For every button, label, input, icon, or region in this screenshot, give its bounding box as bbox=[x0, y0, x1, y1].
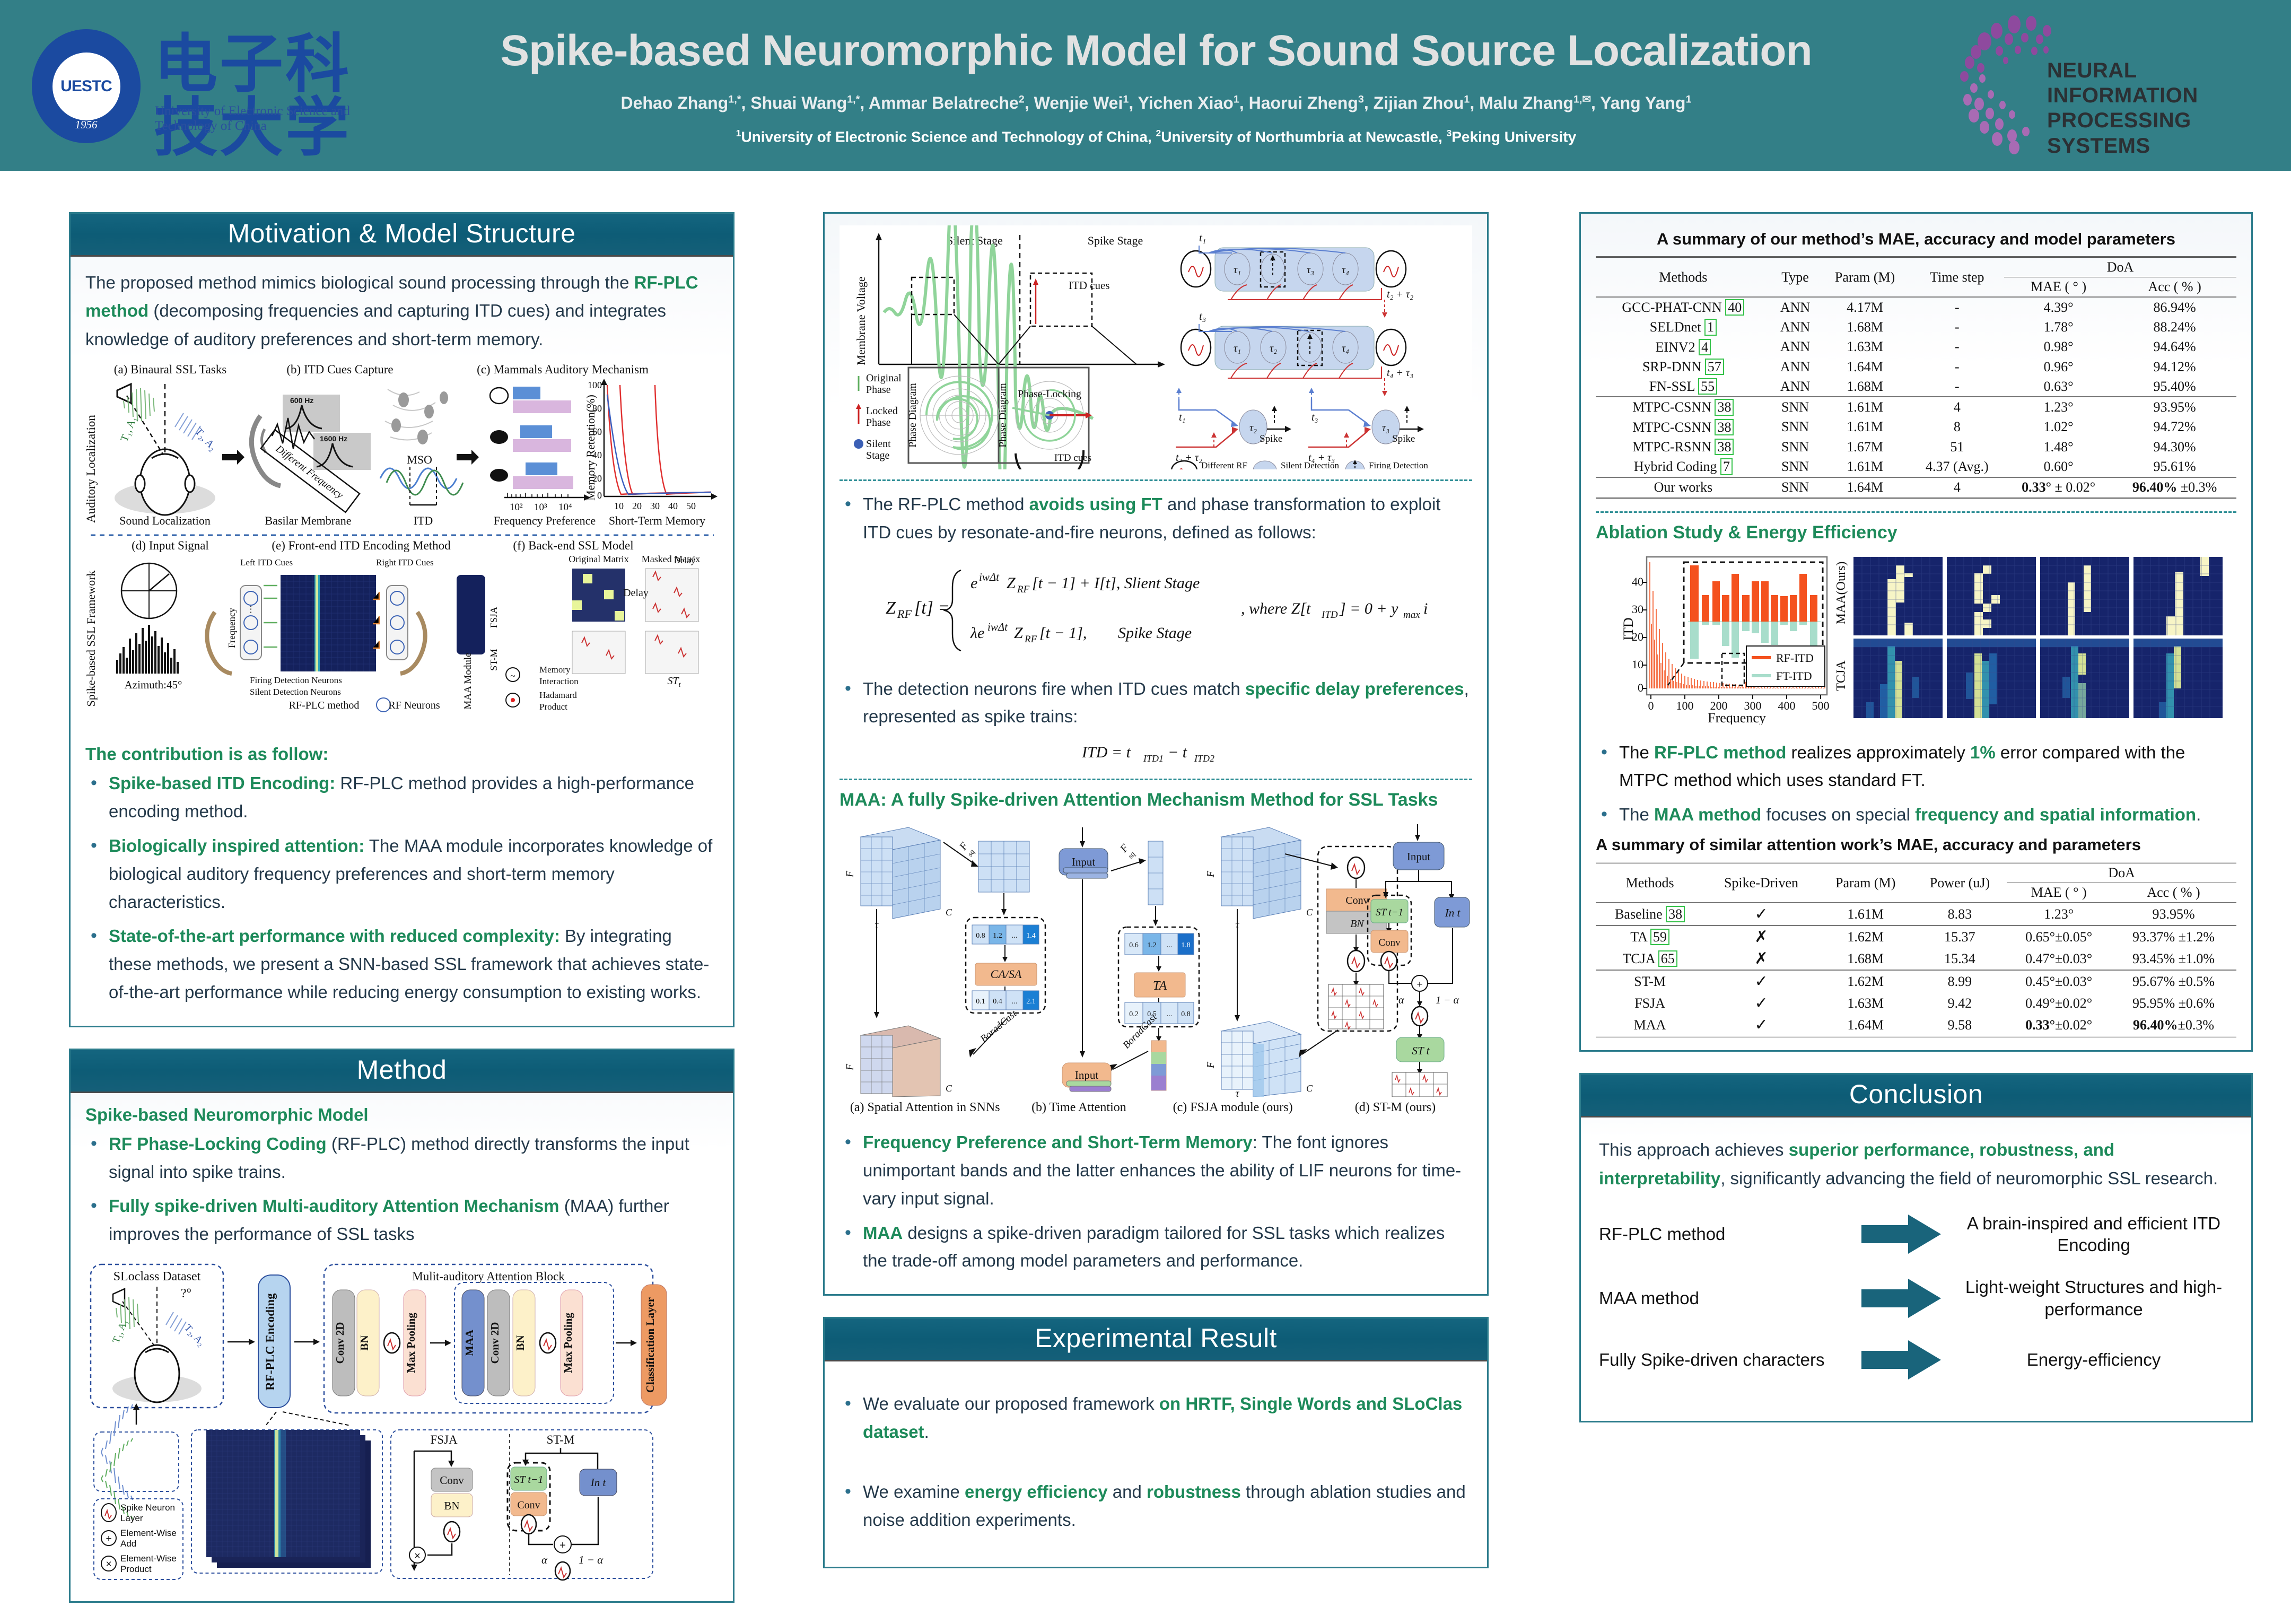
contribution-bold: State-of-the-art performance with reduce… bbox=[109, 926, 560, 946]
svg-text:iwΔt: iwΔt bbox=[979, 571, 1000, 583]
ref-badge[interactable]: 65 bbox=[1658, 950, 1677, 967]
title-area: Spike-based Neuromorphic Model for Sound… bbox=[371, 25, 1941, 145]
svg-text:τ₄: τ₄ bbox=[1342, 264, 1349, 276]
svg-text:Azimuth:45°: Azimuth:45° bbox=[125, 678, 182, 691]
cell-method: Hybrid Coding 7 bbox=[1596, 457, 1771, 477]
ablation-divider bbox=[1596, 511, 2236, 513]
motivation-intro-pre: The proposed method mimics biological so… bbox=[85, 273, 634, 292]
cell-timestep: - bbox=[1910, 317, 2004, 337]
svg-text:Phase-Locking: Phase-Locking bbox=[1018, 388, 1081, 400]
cell-spike-driven: ✗ bbox=[1704, 925, 1818, 948]
rfplc-b2-highlight: specific delay preferences bbox=[1245, 679, 1464, 699]
svg-text:...: ... bbox=[1167, 1010, 1173, 1018]
svg-text:BoradCast: BoradCast bbox=[978, 1008, 1019, 1045]
cell-acc: 88.24% bbox=[2113, 317, 2236, 337]
svg-text:Hadamard: Hadamard bbox=[539, 690, 577, 700]
svg-text:+: + bbox=[559, 1540, 566, 1551]
table-row: EINV2 4 ANN 1.63M - 0.98° 94.64% bbox=[1596, 337, 2236, 357]
svg-text:τ₁: τ₁ bbox=[1262, 466, 1268, 469]
rfplc-bullet-list-2: The detection neurons fire when ITD cues… bbox=[840, 675, 1472, 731]
svg-text:STt: STt bbox=[667, 675, 681, 689]
uestc-seal-year: 1956 bbox=[32, 118, 141, 132]
svg-text:RF-ITD: RF-ITD bbox=[1776, 651, 1814, 665]
svg-text:0.2: 0.2 bbox=[1129, 1010, 1139, 1018]
ref-badge[interactable]: 55 bbox=[1698, 378, 1717, 395]
cell-method: TA 59 bbox=[1596, 925, 1704, 948]
maa-attention-figure: F τ C F sq bbox=[840, 816, 1472, 1099]
table-row: GCC-PHAT-CNN 40 ANN 4.17M - 4.39° 86.94% bbox=[1596, 297, 2236, 317]
cell-type: SNN bbox=[1771, 457, 1820, 477]
svg-text:40: 40 bbox=[592, 450, 602, 460]
table2-col-spikedriven: Spike-Driven bbox=[1704, 863, 1818, 903]
svg-text:Mulit-auditory Attention Block: Mulit-auditory Attention Block bbox=[412, 1270, 565, 1283]
cell-param: 1.64M bbox=[1820, 477, 1910, 498]
cell-power: 9.58 bbox=[1913, 1014, 2007, 1037]
university-name-en: University of Electronic Science and Tec… bbox=[155, 104, 371, 134]
svg-text:T₁, A₁: T₁, A₁ bbox=[118, 415, 139, 443]
svg-text:0.8: 0.8 bbox=[976, 932, 985, 940]
table1-head: Methods Type Param (M) Time step DoA MAE… bbox=[1596, 257, 2236, 298]
cell-method: MTPC-CSNN 38 bbox=[1596, 417, 1771, 437]
conclusion-text: This approach achieves superior performa… bbox=[1599, 1136, 2233, 1192]
cell-param: 1.61M bbox=[1820, 397, 1910, 417]
svg-text:FSJA: FSJA bbox=[488, 607, 499, 628]
svg-text:1 − α: 1 − α bbox=[1436, 994, 1459, 1006]
motivation-panel-header: Motivation & Model Structure bbox=[71, 214, 733, 257]
svg-text:10²: 10² bbox=[510, 502, 523, 513]
cell-method: MTPC-CSNN 38 bbox=[1596, 397, 1771, 417]
table1-col-acc: Acc ( % ) bbox=[2113, 277, 2236, 298]
conclusion-row-3: Fully Spike-driven characters Energy-eff… bbox=[1599, 1340, 2233, 1379]
contribution-bold: Biologically inspired attention: bbox=[109, 836, 364, 855]
svg-text:Firing Detection: Firing Detection bbox=[1369, 460, 1428, 469]
cell-mae: 0.33°±0.02° bbox=[2007, 1014, 2111, 1037]
svg-text:2.1: 2.1 bbox=[1026, 998, 1036, 1006]
svg-text:MAA(Ours): MAA(Ours) bbox=[1834, 561, 1848, 624]
svg-text:10⁴: 10⁴ bbox=[558, 502, 572, 513]
method-bullet-list: RF Phase-Locking Coding (RF-PLC) method … bbox=[85, 1130, 718, 1248]
maa-divider bbox=[840, 779, 1472, 780]
experimental-body: We evaluate our proposed framework on HR… bbox=[825, 1361, 1487, 1567]
rfplc-bullet-1: The RF-PLC method avoids using FT and ph… bbox=[840, 491, 1472, 547]
cell-timestep: 4 bbox=[1910, 477, 2004, 498]
svg-text:BN: BN bbox=[358, 1335, 371, 1350]
cell-timestep: - bbox=[1910, 337, 2004, 357]
concl-post: , significantly advancing the field of n… bbox=[1720, 1168, 2218, 1188]
table2-col-mae: MAE ( ° ) bbox=[2007, 883, 2111, 903]
svg-text:0.6: 0.6 bbox=[1129, 941, 1139, 949]
exp-b1-post: . bbox=[924, 1422, 929, 1442]
svg-text:RF: RF bbox=[1017, 584, 1030, 595]
contribution-list: Spike-based ITD Encoding: RF-PLC method … bbox=[85, 770, 718, 1006]
cell-method: MTPC-RSNN 38 bbox=[1596, 437, 1771, 457]
table1-header-row-1: Methods Type Param (M) Time step DoA bbox=[1596, 257, 2236, 277]
cell-spike-driven: ✓ bbox=[1704, 903, 1818, 925]
abl-b2-hl1: MAA method bbox=[1654, 805, 1761, 824]
ref-badge[interactable]: 38 bbox=[1715, 439, 1734, 455]
svg-text:ITD2: ITD2 bbox=[1194, 753, 1214, 764]
results-panel: A summary of our method’s MAE, accuracy … bbox=[1579, 212, 2253, 1052]
svg-text:(e) Front-end ITD Encoding Met: (e) Front-end ITD Encoding Method bbox=[272, 539, 451, 552]
cell-spike-driven: ✓ bbox=[1704, 992, 1818, 1014]
table-row: Baseline 38 ✓ 1.61M 8.83 1.23° 93.95% bbox=[1596, 903, 2236, 925]
experimental-panel: Experimental Result We evaluate our prop… bbox=[823, 1317, 1489, 1568]
table2-header-row-1: Methods Spike-Driven Param (M) Power (uJ… bbox=[1596, 863, 2236, 883]
cell-timestep: - bbox=[1910, 357, 2004, 377]
svg-text:RF: RF bbox=[1024, 634, 1037, 645]
table-row-highlight: Our works SNN 1.64M 4 0.33° ± 0.02° 96.4… bbox=[1596, 477, 2236, 498]
cell-mae: 0.45°±0.03° bbox=[2007, 970, 2111, 992]
cell-mae: 0.65°±0.05° bbox=[2007, 925, 2111, 948]
svg-text:α: α bbox=[1398, 994, 1404, 1006]
svg-text:Conv 2D: Conv 2D bbox=[488, 1322, 501, 1364]
svg-text:Conv: Conv bbox=[1378, 937, 1401, 948]
ablation-bullet-list: The RF-PLC method realizes approximately… bbox=[1596, 739, 2236, 829]
concl-pre: This approach achieves bbox=[1599, 1140, 1789, 1159]
svg-text:10: 10 bbox=[614, 501, 624, 511]
itd-formula: ITD = t ITD1 − t ITD2 bbox=[840, 737, 1472, 771]
svg-text:BN: BN bbox=[444, 1499, 459, 1512]
svg-text:Max Pooling: Max Pooling bbox=[562, 1313, 574, 1373]
table1-title: A summary of our method’s MAE, accuracy … bbox=[1596, 230, 2236, 249]
svg-text:Layer: Layer bbox=[120, 1513, 143, 1523]
cell-param: 1.67M bbox=[1820, 437, 1910, 457]
cell-mae: 1.02° bbox=[2004, 417, 2113, 437]
svg-text:Original: Original bbox=[866, 372, 902, 384]
svg-text:BN: BN bbox=[514, 1335, 527, 1350]
cell-param: 1.61M bbox=[1820, 417, 1910, 437]
contribution-bold: Spike-based ITD Encoding: bbox=[109, 773, 335, 793]
svg-text:Phase Diagram: Phase Diagram bbox=[907, 383, 919, 448]
maa-bullet-list: Frequency Preference and Short-Term Memo… bbox=[840, 1129, 1472, 1275]
table-row: MTPC-RSNN 38 SNN 1.67M 51 1.48° 94.30% bbox=[1596, 437, 2236, 457]
svg-text:×: × bbox=[106, 1559, 111, 1570]
maa-bullet: MAA designs a spike-driven paradigm tail… bbox=[840, 1219, 1472, 1276]
motivation-intro-post: (decomposing frequencies and capturing I… bbox=[85, 301, 666, 348]
cell-acc: 95.67% ±0.5% bbox=[2111, 970, 2236, 992]
svg-text:MSO: MSO bbox=[407, 453, 432, 466]
svg-text:t₁: t₁ bbox=[1199, 231, 1206, 244]
cell-mae: 0.63° bbox=[2004, 377, 2113, 397]
table2-col-param: Param (M) bbox=[1818, 863, 1913, 903]
svg-text:TCJA: TCJA bbox=[1834, 660, 1848, 691]
cell-mae: 0.98° bbox=[2004, 337, 2113, 357]
svg-text:Frequency: Frequency bbox=[226, 608, 237, 648]
uestc-seal-text: UESTC bbox=[60, 77, 112, 95]
svg-text:[t − 1] + I[t], Slient Stage: [t − 1] + I[t], Slient Stage bbox=[1032, 574, 1200, 592]
svg-text:Spike: Spike bbox=[1260, 433, 1282, 444]
svg-text:0.1: 0.1 bbox=[976, 998, 985, 1006]
table-row: MTPC-CSNN 38 SNN 1.61M 4 1.23° 93.95% bbox=[1596, 397, 2236, 417]
uestc-seal-icon: UESTC 1956 bbox=[32, 29, 141, 143]
ref-badge[interactable]: 57 bbox=[1705, 359, 1724, 375]
cell-param: 1.68M bbox=[1820, 317, 1910, 337]
table1-body-group-ours: Our works SNN 1.64M 4 0.33° ± 0.02° 96.4… bbox=[1596, 477, 2236, 498]
svg-text:1.4: 1.4 bbox=[1026, 932, 1036, 940]
ref-badge[interactable]: 1 bbox=[1704, 319, 1717, 335]
right-column: A summary of our method’s MAE, accuracy … bbox=[1579, 212, 2253, 1444]
svg-text:ITD1: ITD1 bbox=[1143, 753, 1164, 764]
svg-text:Locked: Locked bbox=[866, 405, 898, 417]
svg-text:ITD = t: ITD = t bbox=[1081, 744, 1131, 761]
svg-text:Input: Input bbox=[1075, 1069, 1098, 1081]
table1-col-param: Param (M) bbox=[1820, 257, 1910, 298]
cell-param: 1.64M bbox=[1820, 357, 1910, 377]
table1-col-doa: DoA bbox=[2004, 257, 2236, 277]
table-row: FN-SSL 55 ANN 1.68M - 0.63° 95.40% bbox=[1596, 377, 2236, 397]
cell-type: ANN bbox=[1771, 377, 1820, 397]
cell-param: 1.68M bbox=[1818, 948, 1913, 970]
contribution-item: Spike-based ITD Encoding: RF-PLC method … bbox=[85, 770, 718, 826]
maa-bullet: Frequency Preference and Short-Term Memo… bbox=[840, 1129, 1472, 1212]
concl-row1-right: A brain-inspired and efficient ITD Encod… bbox=[1954, 1212, 2233, 1256]
exp-b2-mid: and bbox=[1108, 1482, 1147, 1501]
conclusion-row-2: MAA method Light-weight Structures and h… bbox=[1599, 1276, 2233, 1320]
svg-text:F: F bbox=[1205, 1061, 1217, 1069]
cell-acc: 93.95% bbox=[2113, 397, 2236, 417]
table2-group-ours: ST-M ✓ 1.62M 8.99 0.45°±0.03° 95.67% ±0.… bbox=[1596, 970, 2236, 1037]
svg-text:t₃: t₃ bbox=[1199, 310, 1206, 322]
university-name-cn: 电子科技大学 bbox=[154, 33, 371, 160]
svg-text:FT-ITD: FT-ITD bbox=[1776, 669, 1812, 683]
svg-text:Spike Stage: Spike Stage bbox=[1088, 234, 1143, 247]
svg-text:MAA Module: MAA Module bbox=[462, 653, 474, 710]
svg-text:Input: Input bbox=[1407, 850, 1430, 863]
model-structure-figure: (a) Binaural SSL Tasks (b) ITD Cues Capt… bbox=[85, 363, 718, 737]
method-bullet-bold: RF Phase-Locking Coding bbox=[109, 1134, 327, 1154]
concl-row3-right: Energy-efficiency bbox=[1954, 1349, 2233, 1370]
concl-row3-left: Fully Spike-driven characters bbox=[1599, 1350, 1848, 1370]
svg-text:1.2: 1.2 bbox=[993, 932, 1002, 940]
table1-col-methods: Methods bbox=[1596, 257, 1771, 298]
table-row: SRP-DNN 57 ANN 1.64M - 0.96° 94.12% bbox=[1596, 357, 2236, 377]
cell-acc: 93.45% ±1.0% bbox=[2111, 948, 2236, 970]
svg-text:In t: In t bbox=[590, 1476, 607, 1489]
svg-text:− t: − t bbox=[1168, 744, 1187, 761]
motivation-heading: Motivation & Model Structure bbox=[228, 219, 576, 248]
svg-text:60: 60 bbox=[592, 426, 602, 437]
conclusion-body: This approach achieves superior performa… bbox=[1581, 1117, 2251, 1421]
svg-text:Product: Product bbox=[539, 702, 567, 712]
abl-b2-pre: The bbox=[1619, 805, 1654, 824]
experimental-panel-header: Experimental Result bbox=[825, 1319, 1487, 1361]
abl-b1-mid: realizes approximately bbox=[1786, 743, 1970, 762]
rfplc-divider bbox=[840, 479, 1472, 481]
svg-text:τ₂: τ₂ bbox=[1270, 343, 1277, 354]
table2-group-baseline: Baseline 38 ✓ 1.61M 8.83 1.23° 93.95% bbox=[1596, 903, 2236, 925]
conclusion-heading: Conclusion bbox=[1849, 1079, 1983, 1109]
table-row: FSJA ✓ 1.63M 9.42 0.49°±0.02° 95.95% ±0.… bbox=[1596, 992, 2236, 1014]
experimental-bullet-1: We evaluate our proposed framework on HR… bbox=[840, 1390, 1472, 1446]
cell-type: SNN bbox=[1771, 397, 1820, 417]
rfplc-b2-pre: The detection neurons fire when ITD cues… bbox=[863, 679, 1245, 699]
svg-text:[t − 1],: [t − 1], bbox=[1039, 624, 1087, 642]
affiliation-list: 1University of Electronic Science and Te… bbox=[392, 128, 1920, 145]
cell-mae: 1.23° bbox=[2004, 397, 2113, 417]
svg-text:MAA: MAA bbox=[463, 1329, 476, 1356]
svg-text:+: + bbox=[106, 1533, 111, 1544]
ref-badge[interactable]: 59 bbox=[1650, 929, 1669, 945]
svg-text:Spike Stage: Spike Stage bbox=[1118, 624, 1192, 642]
cell-method: MAA bbox=[1596, 1014, 1704, 1037]
ref-badge[interactable]: 4 bbox=[1699, 339, 1711, 355]
cell-timestep: 8 bbox=[1910, 417, 2004, 437]
svg-text:Element-Wise: Element-Wise bbox=[120, 1553, 177, 1564]
svg-text:F: F bbox=[1205, 870, 1217, 878]
ref-badge[interactable]: 38 bbox=[1715, 399, 1734, 415]
svg-text:30: 30 bbox=[650, 501, 660, 511]
cell-mae: 0.60° bbox=[2004, 457, 2113, 477]
cell-type: SNN bbox=[1771, 437, 1820, 457]
cell-param: 1.61M bbox=[1818, 903, 1913, 925]
table-row-highlight: MAA ✓ 1.64M 9.58 0.33°±0.02° 96.40%±0.3% bbox=[1596, 1014, 2236, 1037]
contribution-heading: The contribution is as follow: bbox=[85, 744, 718, 764]
svg-text:0: 0 bbox=[1648, 699, 1654, 712]
arrow-right-icon bbox=[1848, 1215, 1954, 1254]
svg-text:Product: Product bbox=[120, 1564, 152, 1574]
svg-text:Right ITD Cues: Right ITD Cues bbox=[376, 557, 434, 567]
svg-text:(b) ITD Cues Capture: (b) ITD Cues Capture bbox=[286, 363, 393, 376]
svg-text:20: 20 bbox=[1632, 630, 1643, 643]
svg-text:50: 50 bbox=[686, 501, 696, 511]
ablation-bullet-1: The RF-PLC method realizes approximately… bbox=[1596, 739, 2236, 795]
rfplc-panel: Silent Stage Spike Stage Membrane Voltag… bbox=[823, 212, 1489, 1296]
table1-body-group-ann: GCC-PHAT-CNN 40 ANN 4.17M - 4.39° 86.94%… bbox=[1596, 297, 2236, 397]
svg-text:T₂, A₂: T₂, A₂ bbox=[193, 426, 218, 453]
svg-text:Z: Z bbox=[886, 598, 896, 618]
table2-col-power: Power (uJ) bbox=[1913, 863, 2007, 903]
cell-type: SNN bbox=[1771, 417, 1820, 437]
svg-text:Spike-based SSL Framework: Spike-based SSL Framework bbox=[85, 571, 98, 707]
cell-spike-driven: ✓ bbox=[1704, 1014, 1818, 1037]
maa-bullet-bold: MAA bbox=[863, 1223, 903, 1243]
cell-mae: 1.48° bbox=[2004, 437, 2113, 457]
svg-text:Firing Detection Neurons: Firing Detection Neurons bbox=[250, 675, 342, 685]
method-panel-header: Method bbox=[71, 1050, 733, 1093]
experimental-bullet-2: We examine energy efficiency and robustn… bbox=[840, 1478, 1472, 1534]
svg-text:?°: ?° bbox=[181, 1287, 191, 1300]
cell-acc: 96.40% ±0.3% bbox=[2113, 477, 2236, 498]
cell-type: ANN bbox=[1771, 297, 1820, 317]
author-list: Dehao Zhang1,*, Shuai Wang1,*, Ammar Bel… bbox=[392, 92, 1920, 115]
ref-badge[interactable]: 40 bbox=[1725, 299, 1744, 316]
svg-text:τ₂: τ₂ bbox=[1249, 422, 1257, 434]
cell-acc: 93.95% bbox=[2111, 903, 2236, 925]
svg-text:Silent Detection: Silent Detection bbox=[1281, 460, 1340, 469]
ablation-heading: Ablation Study & Energy Efficiency bbox=[1596, 522, 2236, 543]
svg-text:ITD: ITD bbox=[1321, 609, 1338, 621]
cell-timestep: 51 bbox=[1910, 437, 2004, 457]
cell-method: Baseline 38 bbox=[1596, 903, 1704, 925]
svg-text:TA: TA bbox=[1153, 979, 1167, 993]
svg-text:0: 0 bbox=[1638, 681, 1643, 694]
experimental-bullet-list: We evaluate our proposed framework on HR… bbox=[840, 1390, 1472, 1534]
maa-caption-c: (c) FSJA module (ours) bbox=[1147, 1101, 1318, 1115]
svg-text:max: max bbox=[1403, 609, 1420, 621]
svg-text:τ₄: τ₄ bbox=[1342, 343, 1349, 354]
svg-text:Conv: Conv bbox=[1345, 895, 1368, 906]
cell-spike-driven: ✗ bbox=[1704, 948, 1818, 970]
ref-badge[interactable]: 7 bbox=[1720, 458, 1733, 475]
svg-text:(f) Back-end SSL Model: (f) Back-end SSL Model bbox=[513, 539, 633, 552]
conclusion-panel: Conclusion This approach achieves superi… bbox=[1579, 1073, 2253, 1422]
arrow-right-icon bbox=[1848, 1279, 1954, 1318]
cell-mae: 4.39° bbox=[2004, 297, 2113, 317]
neurips-logo-area: NEURAL INFORMATION PROCESSING SYSTEMS bbox=[1941, 0, 2291, 171]
svg-text:100: 100 bbox=[1676, 699, 1694, 712]
results-body: A summary of our method’s MAE, accuracy … bbox=[1581, 214, 2251, 1050]
cell-method: ST-M bbox=[1596, 970, 1704, 992]
svg-text:T₁, A₁: T₁, A₁ bbox=[110, 1317, 130, 1344]
exp-b1-pre: We evaluate our proposed framework bbox=[863, 1394, 1159, 1413]
cell-timestep: 4.37 (Avg.) bbox=[1910, 457, 2004, 477]
cell-acc: 94.12% bbox=[2113, 357, 2236, 377]
svg-text:t₄ + τ₃: t₄ + τ₃ bbox=[1387, 367, 1413, 379]
concl-row1-left: RF-PLC method bbox=[1599, 1224, 1848, 1244]
svg-text:Delay: Delay bbox=[623, 587, 649, 599]
svg-text:Silent: Silent bbox=[866, 438, 891, 450]
svg-text:ST t: ST t bbox=[1412, 1044, 1430, 1057]
architecture-figure: SLoclass Dataset ?° T₁, A₁ T₂, A₂ bbox=[85, 1257, 718, 1588]
ref-badge[interactable]: 38 bbox=[1666, 906, 1685, 922]
contribution-item: State-of-the-art performance with reduce… bbox=[85, 922, 718, 1006]
svg-text:λe: λe bbox=[970, 624, 984, 642]
svg-text:~: ~ bbox=[510, 671, 515, 681]
cell-mae: 0.47°±0.03° bbox=[2007, 948, 2111, 970]
svg-text:Element-Wise: Element-Wise bbox=[120, 1528, 177, 1538]
svg-text:Conv: Conv bbox=[440, 1474, 464, 1487]
svg-text:80: 80 bbox=[592, 403, 602, 414]
svg-text:C: C bbox=[946, 1083, 952, 1094]
conclusion-panel-header: Conclusion bbox=[1581, 1075, 2251, 1117]
svg-text:RF-PLC Encoding: RF-PLC Encoding bbox=[264, 1293, 277, 1391]
abl-b1-hl1: RF-PLC method bbox=[1654, 743, 1786, 762]
motivation-intro: The proposed method mimics biological so… bbox=[85, 268, 718, 353]
cell-method: GCC-PHAT-CNN 40 bbox=[1596, 297, 1771, 317]
cell-acc: 95.40% bbox=[2113, 377, 2236, 397]
abl-b2-mid: focuses on special bbox=[1761, 805, 1915, 824]
svg-text:0.4: 0.4 bbox=[993, 998, 1002, 1006]
svg-text:ST-M: ST-M bbox=[547, 1433, 575, 1446]
table1-col-timestep: Time step bbox=[1910, 257, 2004, 298]
svg-text:1 − α: 1 − α bbox=[579, 1553, 604, 1566]
rfplc-main-formula: Z RF [t] = e iwΔt Z RF [t − 1] + I[t], S… bbox=[840, 558, 1472, 663]
cell-acc: 94.64% bbox=[2113, 337, 2236, 357]
svg-text:τ₁: τ₁ bbox=[1234, 264, 1241, 276]
svg-text:Left ITD Cues: Left ITD Cues bbox=[240, 557, 293, 567]
cell-power: 9.42 bbox=[1913, 992, 2007, 1014]
svg-text:...: ... bbox=[1012, 998, 1018, 1006]
ablation-bullet-2: The MAA method focuses on special freque… bbox=[1596, 801, 2236, 829]
ref-badge[interactable]: 38 bbox=[1715, 419, 1734, 435]
cell-method: TCJA 65 bbox=[1596, 948, 1704, 970]
left-column: Motivation & Model Structure The propose… bbox=[69, 212, 734, 1624]
svg-text:Z: Z bbox=[1014, 624, 1023, 642]
method-body: Spike-based Neuromorphic Model RF Phase-… bbox=[71, 1093, 733, 1601]
middle-column: Silent Stage Spike Stage Membrane Voltag… bbox=[823, 212, 1489, 1590]
svg-text:Input: Input bbox=[1072, 855, 1095, 868]
svg-text:(c) Mammals Auditory Mechanism: (c) Mammals Auditory Mechanism bbox=[477, 363, 649, 376]
svg-text:Frequency Preference: Frequency Preference bbox=[494, 514, 596, 527]
svg-text:20: 20 bbox=[592, 473, 602, 484]
cell-param: 1.62M bbox=[1818, 970, 1913, 992]
svg-text:τ₃: τ₃ bbox=[1307, 264, 1314, 276]
cell-acc: 94.30% bbox=[2113, 437, 2236, 457]
svg-text:ITD cues: ITD cues bbox=[1054, 452, 1091, 464]
svg-text:0: 0 bbox=[597, 490, 602, 501]
maa-caption-a: (a) Spatial Attention in SNNs bbox=[840, 1101, 1010, 1115]
cell-acc: 93.37% ±1.2% bbox=[2111, 925, 2236, 948]
